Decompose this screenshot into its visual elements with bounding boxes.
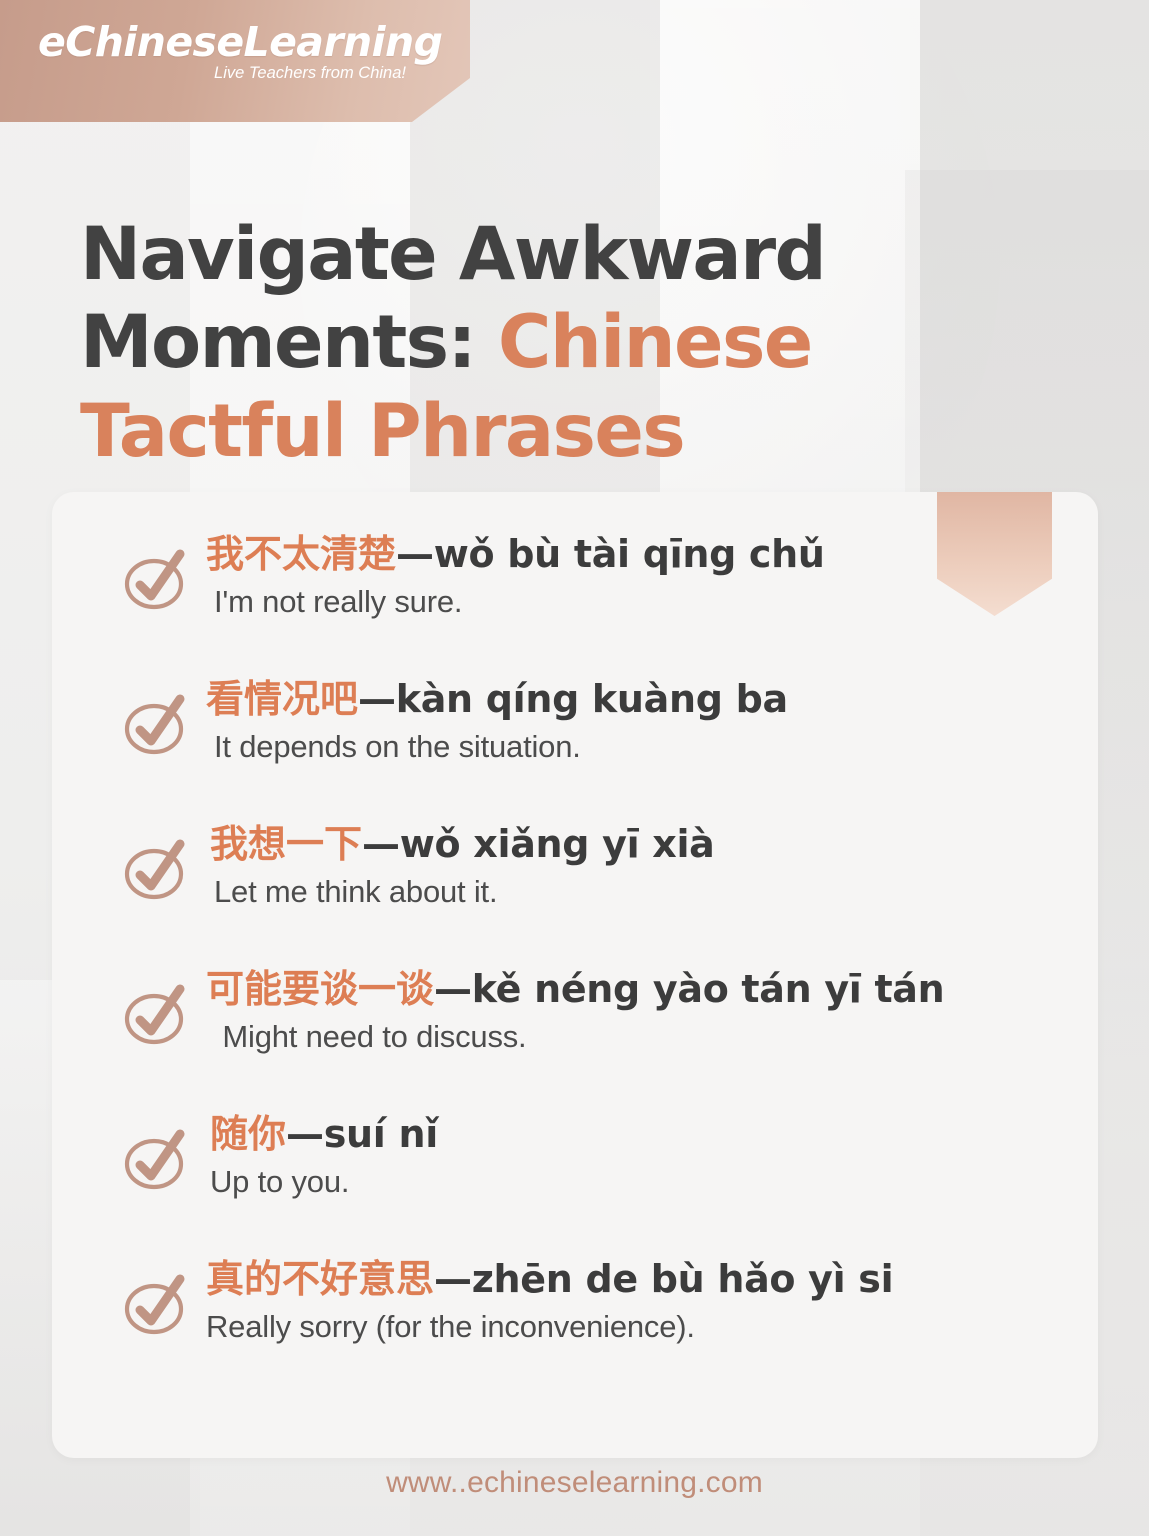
check-circle-icon: [120, 834, 192, 906]
logo-wordmark: eChineseLearning: [38, 22, 410, 63]
phrase-hanzi: 看情况吧: [206, 677, 358, 721]
phrase-hanzi: 真的不好意思: [206, 1257, 434, 1301]
check-circle-icon: [120, 1124, 192, 1196]
title-line-2-accent: Chinese: [498, 300, 812, 385]
list-item: 看情况吧—kàn qíng kuàng ba It depends on the…: [52, 675, 1098, 820]
phrase-pinyin: kàn qíng kuàng ba: [396, 677, 788, 721]
phrase-english: Might need to discuss.: [206, 1018, 1098, 1055]
logo-tagline: Live Teachers from China!: [38, 64, 410, 83]
check-circle-icon: [120, 979, 192, 1051]
phrase-english: Really sorry (for the inconvenience).: [206, 1308, 1098, 1345]
phrase-dash: —: [434, 967, 472, 1011]
phrase-main-line: 我不太清楚—wǒ bù tài qīng chǔ: [206, 532, 1098, 577]
phrase-dash: —: [358, 677, 396, 721]
phrase-main-line: 真的不好意思—zhēn de bù hǎo yì si: [206, 1257, 1098, 1302]
check-circle-icon: [120, 689, 192, 761]
phrase-hanzi: 可能要谈一谈: [206, 967, 434, 1011]
title-line-3-accent: Tactful Phrases: [80, 389, 684, 474]
phrase-pinyin: wǒ xiǎng yī xià: [400, 822, 715, 866]
phrase-pinyin: zhēn de bù hǎo yì si: [472, 1257, 894, 1301]
footer-website-url[interactable]: www..echineselearning.com: [0, 1466, 1149, 1500]
phrase-text: 我想一下—wǒ xiǎng yī xià Let me think about …: [192, 820, 1098, 910]
phrase-english: It depends on the situation.: [206, 728, 1098, 765]
phrase-pinyin: suí nǐ: [324, 1112, 438, 1156]
brand-logo: eChineseLearning Live Teachers from Chin…: [38, 22, 410, 83]
page-title: Navigate Awkward Moments: Chinese Tactfu…: [80, 211, 980, 476]
phrase-english: Let me think about it.: [210, 873, 1098, 910]
phrase-hanzi: 我不太清楚: [206, 532, 396, 576]
phrase-text: 真的不好意思—zhēn de bù hǎo yì si Really sorry…: [192, 1255, 1098, 1345]
phrase-main-line: 看情况吧—kàn qíng kuàng ba: [206, 677, 1098, 722]
phrase-text: 看情况吧—kàn qíng kuàng ba It depends on the…: [192, 675, 1098, 765]
poster-canvas: eChineseLearning Live Teachers from Chin…: [0, 0, 1149, 1536]
phrase-pinyin: kě néng yào tán yī tán: [472, 967, 945, 1011]
phrase-english: Up to you.: [210, 1163, 1098, 1200]
phrase-pinyin: wǒ bù tài qīng chǔ: [434, 532, 825, 576]
phrase-english: I'm not really sure.: [206, 583, 1098, 620]
phrase-hanzi: 随你: [210, 1112, 286, 1156]
phrase-text: 可能要谈一谈—kě néng yào tán yī tán Might need…: [192, 965, 1098, 1055]
list-item: 我想一下—wǒ xiǎng yī xià Let me think about …: [52, 820, 1098, 965]
list-item: 真的不好意思—zhēn de bù hǎo yì si Really sorry…: [52, 1255, 1098, 1400]
phrase-main-line: 随你—suí nǐ: [210, 1112, 1098, 1157]
phrase-main-line: 我想一下—wǒ xiǎng yī xià: [210, 822, 1098, 867]
phrase-dash: —: [396, 532, 434, 576]
phrase-dash: —: [286, 1112, 324, 1156]
phrases-card: 我不太清楚—wǒ bù tài qīng chǔ I'm not really …: [52, 492, 1098, 1458]
list-item: 可能要谈一谈—kě néng yào tán yī tán Might need…: [52, 965, 1098, 1110]
phrase-text: 随你—suí nǐ Up to you.: [192, 1110, 1098, 1200]
list-item: 随你—suí nǐ Up to you.: [52, 1110, 1098, 1255]
phrase-main-line: 可能要谈一谈—kě néng yào tán yī tán: [206, 967, 1098, 1012]
phrase-dash: —: [434, 1257, 472, 1301]
check-circle-icon: [120, 544, 192, 616]
title-line-2-dark: Moments:: [80, 300, 498, 385]
check-circle-icon: [120, 1269, 192, 1341]
phrase-text: 我不太清楚—wǒ bù tài qīng chǔ I'm not really …: [192, 530, 1098, 620]
phrase-dash: —: [362, 822, 400, 866]
title-line-1: Navigate Awkward: [80, 212, 825, 297]
phrase-list: 我不太清楚—wǒ bù tài qīng chǔ I'm not really …: [52, 530, 1098, 1400]
list-item: 我不太清楚—wǒ bù tài qīng chǔ I'm not really …: [52, 530, 1098, 675]
phrase-hanzi: 我想一下: [210, 822, 362, 866]
